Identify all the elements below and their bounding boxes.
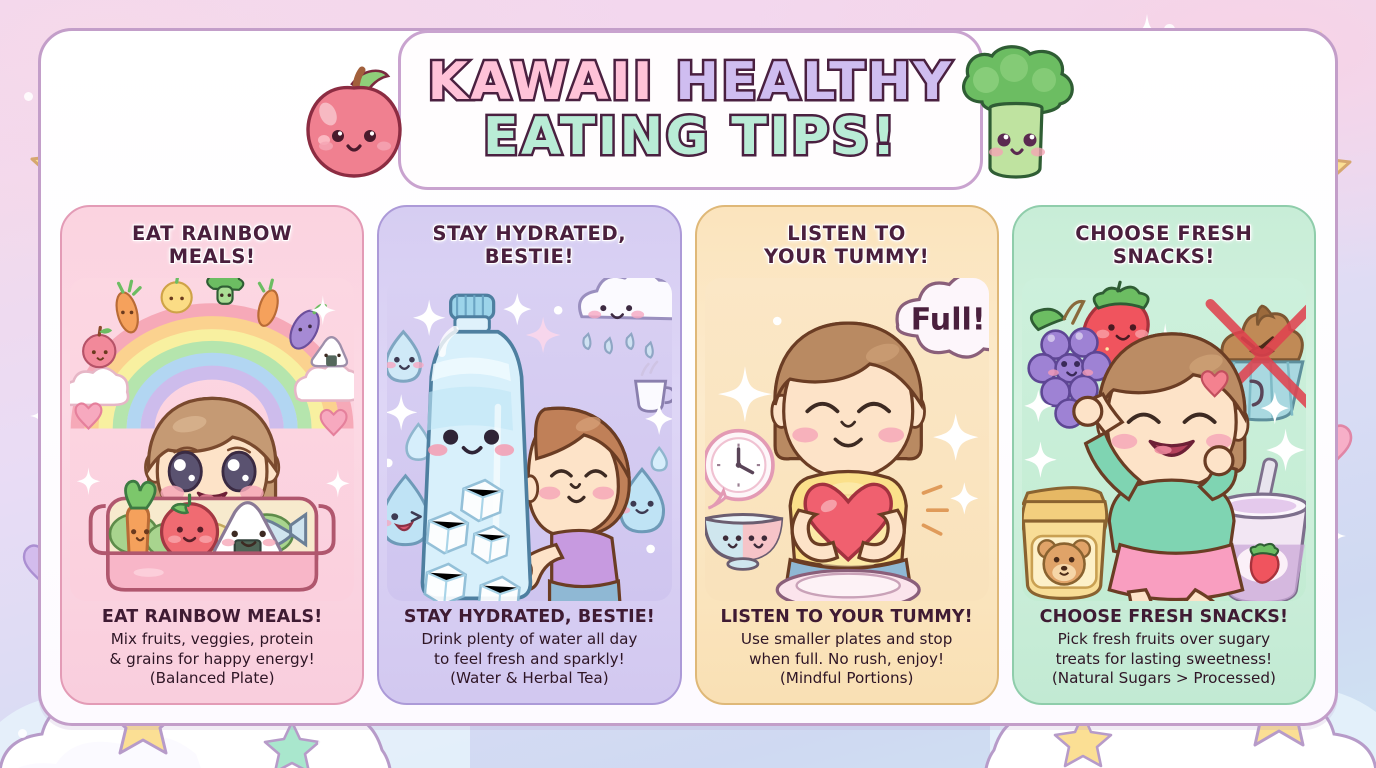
caption-line: when full. No rush, enjoy! [705,650,989,670]
caption-line: (Natural Sugars > Processed) [1022,669,1306,689]
title-banner: KAWAII HEALTHY EATING TIPS! [398,30,983,190]
card-choose-fresh-snacks[interactable]: CHOOSE FRESH SNACKS! [1012,205,1316,705]
water-droplet-icon [387,332,424,381]
sparkle-icon [1024,442,1056,479]
card-caption-3: LISTEN TO YOUR TUMMY! Use smaller plates… [697,601,997,703]
tips-cards-row: EAT RAINBOW MEALS! [60,205,1316,705]
honey-jar-icon [1022,488,1107,599]
card-header-line2: YOUR TUMMY! [707,246,987,269]
sparkle-icon [326,470,350,498]
title-line-1: KAWAII HEALTHY [428,56,954,109]
title-word-kawaii: KAWAII [428,52,655,112]
dot-deco [24,92,33,101]
rain-cloud-icon [580,278,672,358]
onigiri-icon [312,337,347,366]
teacup-icon [636,362,672,411]
card-header-line1: CHOOSE FRESH [1024,223,1304,246]
heart-icon [321,410,347,435]
card-header-line1: LISTEN TO [707,223,987,246]
bento-box-icon [91,481,334,590]
sparkle-icon [933,414,978,461]
ice-cube-icon-2 [427,513,468,554]
illustration-girl-with-bento [70,278,354,601]
illustration-girl-hugging-bottle [387,278,671,601]
card-header-3: LISTEN TO YOUR TUMMY! [697,207,997,274]
card-caption-1: EAT RAINBOW MEALS! Mix fruits, veggies, … [62,601,362,703]
card-header-1: EAT RAINBOW MEALS! [62,207,362,274]
caption-title: STAY HYDRATED, BESTIE! [387,607,671,628]
caption-line: to feel fresh and sparkly! [387,650,671,670]
card-header-line2: SNACKS! [1024,246,1304,269]
girl-character [771,323,946,600]
caption-line: Drink plenty of water all day [387,630,671,650]
caption-title: CHOOSE FRESH SNACKS! [1022,607,1306,628]
thought-text: Full! [910,303,985,338]
title-line-2: EATING TIPS! [483,111,898,164]
broccoli-mini-icon [207,278,243,304]
broccoli-icon [952,44,1086,196]
illustration-girl-mindful: Full! [705,278,989,601]
plate-icon [777,571,919,601]
dot-deco [318,738,328,748]
card-header-2: STAY HYDRATED, BESTIE! [379,207,679,274]
caption-line: Pick fresh fruits over sugary [1022,630,1306,650]
carrot-icon [113,281,142,334]
card-header-line2: MEALS! [72,246,352,269]
card-stay-hydrated[interactable]: STAY HYDRATED, BESTIE! [377,205,681,705]
card-header-4: CHOOSE FRESH SNACKS! [1014,207,1314,274]
water-droplet-small [652,448,667,471]
card-eat-rainbow-meals[interactable]: EAT RAINBOW MEALS! [60,205,364,705]
card-caption-2: STAY HYDRATED, BESTIE! Drink plenty of w… [379,601,679,703]
caption-line: Mix fruits, veggies, protein [70,630,354,650]
title-word-healthy: HEALTHY [675,52,953,112]
card-header-line2: BESTIE! [389,246,669,269]
card-caption-4: CHOOSE FRESH SNACKS! Pick fresh fruits o… [1014,601,1314,703]
apple-icon [300,62,408,182]
sparkle-icon [526,317,560,354]
caption-line: (Water & Herbal Tea) [387,669,671,689]
card-header-line1: EAT RAINBOW [72,223,352,246]
ice-cube-icon [462,480,503,521]
card-header-line1: STAY HYDRATED, [389,223,669,246]
sparkle-icon [718,366,772,422]
sparkle-icon [504,293,532,325]
orange-icon [162,278,192,312]
water-bottle-icon [423,295,531,600]
caption-title: LISTEN TO YOUR TUMMY! [705,607,989,628]
caption-line: treats for lasting sweetness! [1022,650,1306,670]
dot-deco [18,729,27,738]
sparkle-icon [413,300,445,337]
apple-mini-icon [83,328,115,368]
sparkle-icon [387,394,417,431]
card-listen-to-tummy[interactable]: LISTEN TO YOUR TUMMY! Full! [695,205,999,705]
clock-icon [705,431,773,508]
caption-line: Use smaller plates and stop [705,630,989,650]
caption-line: (Mindful Portions) [705,669,989,689]
caption-title: EAT RAINBOW MEALS! [70,607,354,628]
caption-line: (Balanced Plate) [70,669,354,689]
sparkle-icon [77,467,101,495]
sparkle-icon [950,482,978,514]
illustration-girl-with-grapes [1022,278,1306,601]
ice-cube-icon-3 [472,527,509,564]
caption-line: & grains for happy energy! [70,650,354,670]
bowl-icon [705,515,782,570]
